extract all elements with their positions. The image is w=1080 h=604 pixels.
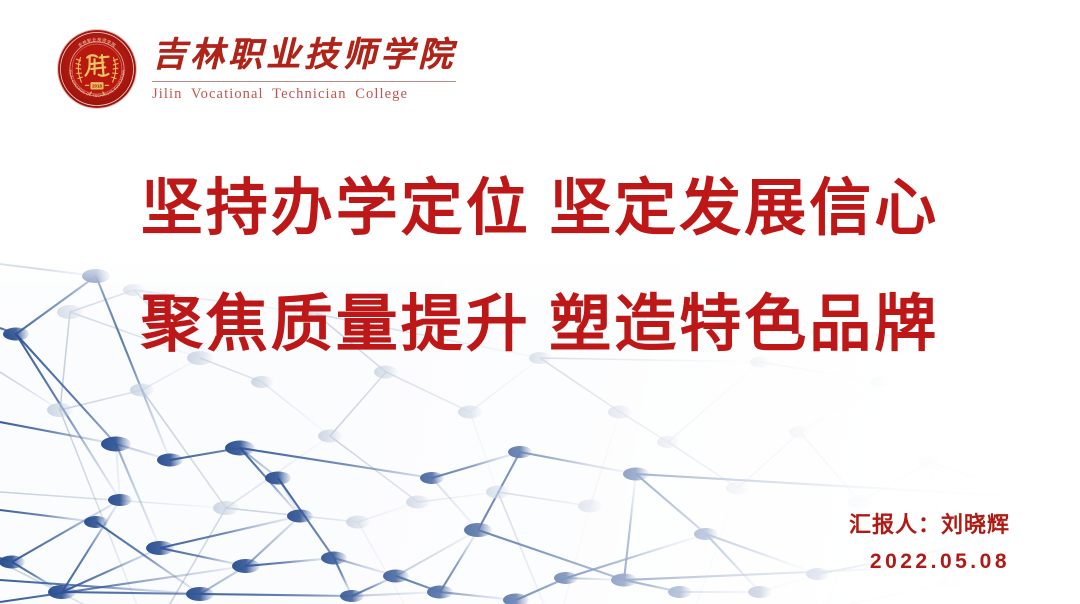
logo-divider-rule [152,81,456,82]
presenter-info: 汇报人：刘晓辉 2022.05.08 [849,512,1010,574]
college-logo-lockup: 吉林职业技师学院 JILIN COLLEGE OF TECHNICAL EDUC… [56,28,456,110]
slide-title: 坚持办学定位 坚定发展信心 聚焦质量提升 塑造特色品牌 [0,178,1080,356]
college-emblem-icon: 吉林职业技师学院 JILIN COLLEGE OF TECHNICAL EDUC… [56,28,138,110]
title-line-1: 坚持办学定位 坚定发展信心 [0,178,1080,240]
presentation-slide: 吉林职业技师学院 JILIN COLLEGE OF TECHNICAL EDUC… [0,0,1080,604]
presenter-name: 汇报人：刘晓辉 [849,512,1010,538]
college-name-chinese: 吉林职业技师学院 [152,37,456,75]
presentation-date: 2022.05.08 [849,550,1010,574]
college-name-english: Jilin Vocational Technician College [152,86,456,103]
svg-text:2018: 2018 [92,84,102,89]
college-name-text-group: 吉林职业技师学院 Jilin Vocational Technician Col… [152,35,456,102]
title-line-2: 聚焦质量提升 塑造特色品牌 [0,294,1080,356]
